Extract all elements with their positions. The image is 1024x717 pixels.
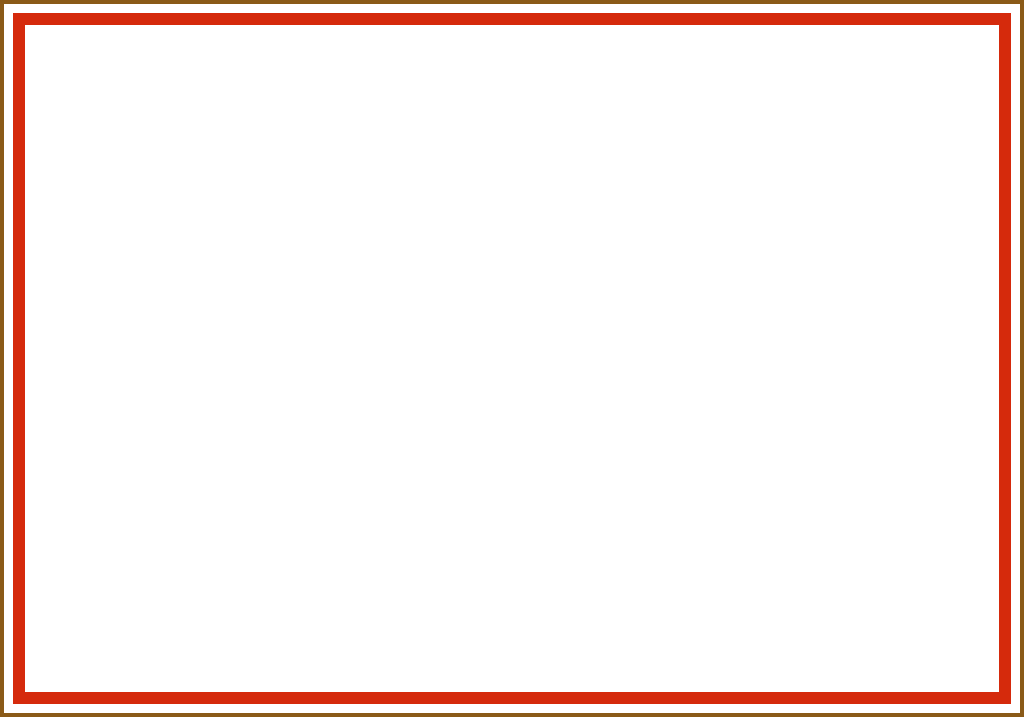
title-line-3: русского советского поэта [25,266,999,297]
poster-root: РОССИЙСКАЯ МЕЖДУНАРОДНАЯ АКАДЕМИЯ ТУРИЗМ… [0,0,1024,717]
title-line-4: Егора Александровича Исаева [25,297,999,328]
rmat-logo-icon [510,61,572,119]
title-quote: «Жизнь моя - поэзия!» [25,332,999,376]
organization-name: РОССИЙСКАЯ МЕЖДУНАРОДНАЯ АКАДЕМИЯ ТУРИЗМ… [25,156,999,186]
title-block: Литературная гостиная, посвященная памят… [25,195,999,376]
poster-canvas: РОССИЙСКАЯ МЕЖДУНАРОДНАЯ АКАДЕМИЯ ТУРИЗМ… [25,25,999,692]
portrait-photo [451,391,683,623]
title-line-2: посвященная памяти [25,235,999,266]
title-line-1: Литературная гостиная, [25,195,999,235]
signature-autograph [465,620,695,692]
